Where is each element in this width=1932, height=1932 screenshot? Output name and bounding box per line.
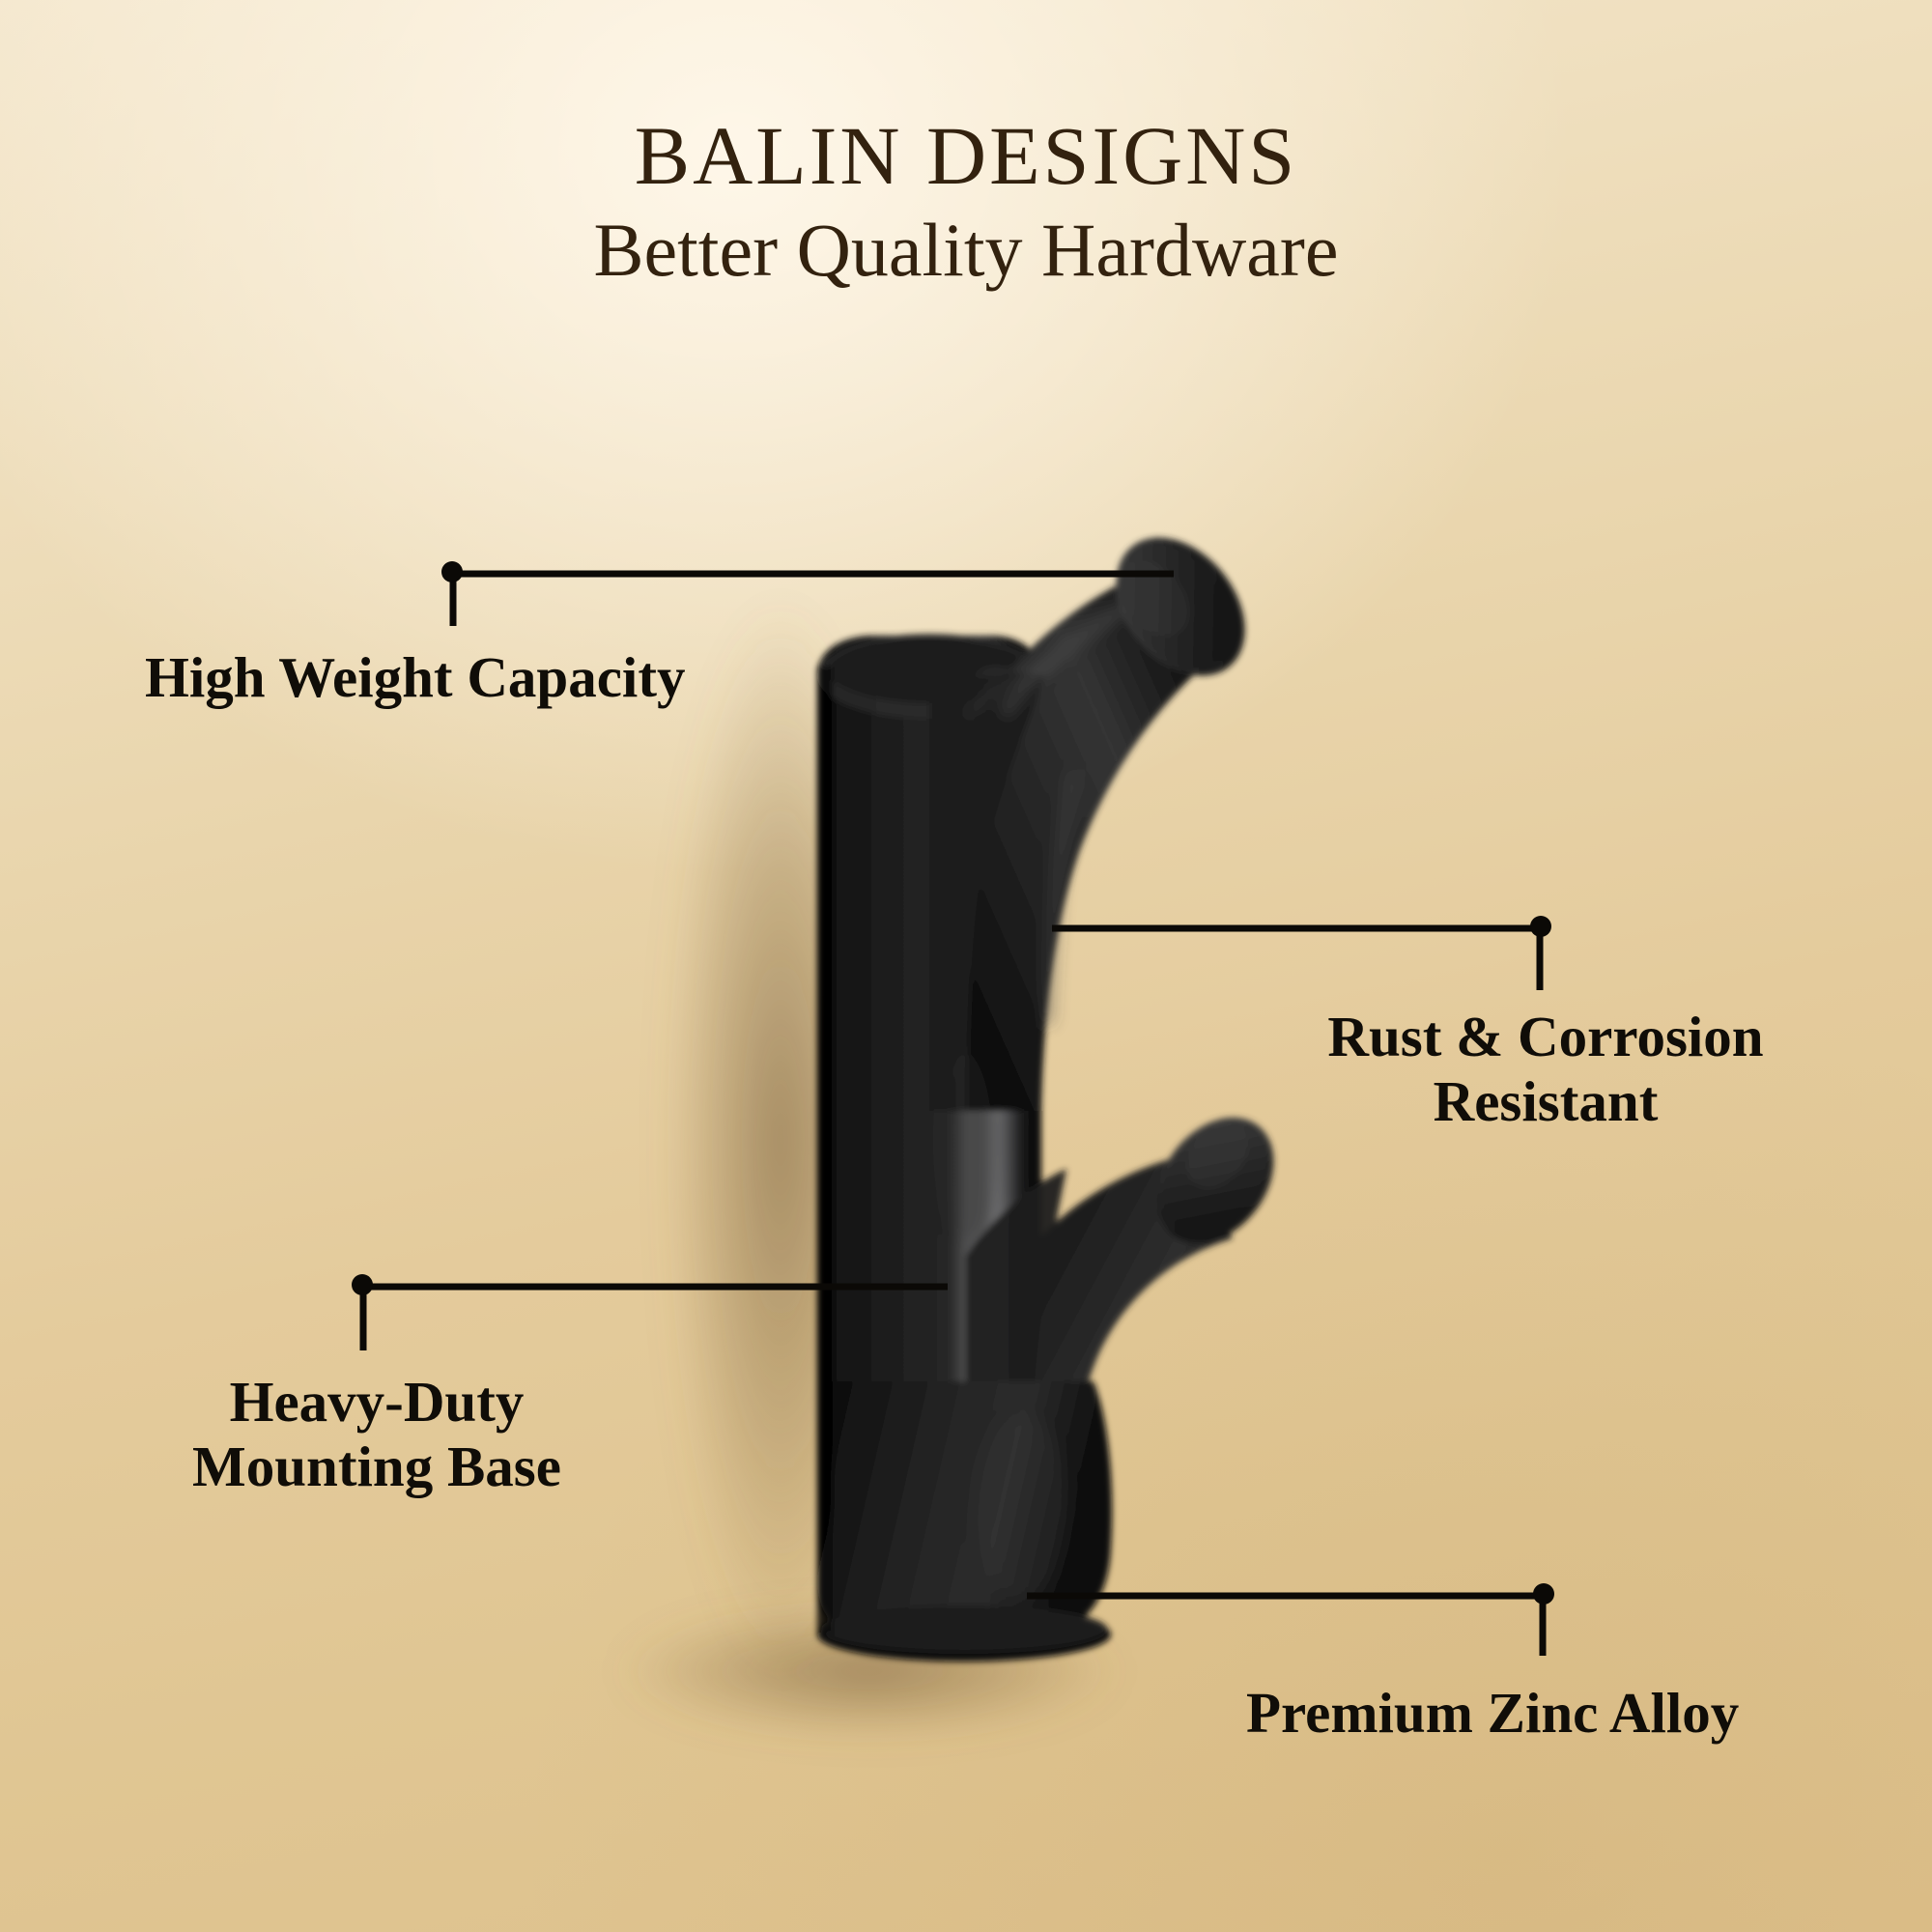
product-infographic: BALIN DESIGNS Better Quality Hardware [0, 0, 1932, 1932]
callout-rust-corrosion-resistant: Rust & Corrosion Resistant [1236, 1005, 1855, 1135]
callout-heavy-duty-mounting-base: Heavy-Duty Mounting Base [116, 1370, 638, 1500]
header-block: BALIN DESIGNS Better Quality Hardware [0, 114, 1932, 290]
callout-premium-zinc-alloy: Premium Zinc Alloy [1246, 1681, 1864, 1746]
brand-title: BALIN DESIGNS [0, 114, 1932, 197]
brand-tagline: Better Quality Hardware [0, 211, 1932, 290]
hook-body [817, 513, 1297, 1662]
callout-high-weight-capacity: High Weight Capacity [145, 645, 879, 710]
